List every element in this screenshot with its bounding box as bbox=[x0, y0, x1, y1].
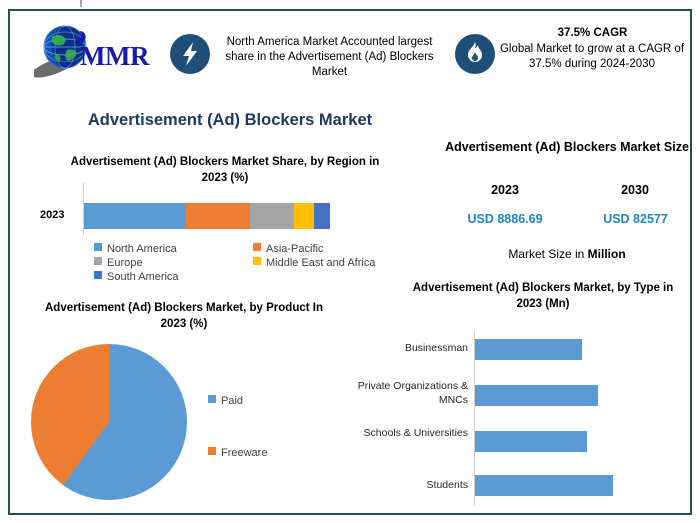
region-chart-title: Advertisement (Ad) Blockers Market Share… bbox=[60, 154, 390, 186]
legend-middle-east-africa: Middle East and Africa bbox=[253, 257, 375, 269]
legend-europe: Europe bbox=[94, 257, 142, 269]
page-title: Advertisement (Ad) Blockers Market bbox=[10, 111, 450, 130]
content-frame: MMR North America Market Accounted large… bbox=[8, 9, 692, 515]
segment-middle-east-africa bbox=[294, 203, 314, 229]
pie-swatch-paid bbox=[208, 395, 216, 403]
segment-asia-pacific bbox=[186, 203, 250, 229]
legend-swatch-europe bbox=[94, 257, 102, 265]
market-size-footer-plain: Market Size in bbox=[508, 247, 587, 261]
pie-chart bbox=[31, 344, 187, 500]
type-chart-title: Advertisement (Ad) Blockers Market, by T… bbox=[408, 280, 678, 312]
legend-label-middle-east-africa: Middle East and Africa bbox=[266, 257, 375, 269]
market-size-year-2030: 2030 bbox=[580, 183, 690, 197]
legend-label-south-america: South America bbox=[107, 271, 179, 283]
type-bar-students bbox=[475, 475, 613, 496]
top-tick-mark bbox=[80, 0, 82, 7]
brand-name: MMR bbox=[80, 41, 149, 72]
pie-swatch-freeware bbox=[208, 447, 216, 455]
highlight-text-1: North America Market Accounted largest s… bbox=[216, 35, 443, 80]
segment-europe bbox=[250, 203, 294, 229]
infographic-page: MMR North America Market Accounted large… bbox=[0, 0, 700, 523]
market-size-footer-unit: Million bbox=[588, 247, 626, 261]
region-stacked-bar bbox=[84, 203, 330, 229]
type-bar-businessman bbox=[475, 339, 582, 360]
highlight-text-2: Global Market to grow at a CAGR of 37.5%… bbox=[497, 42, 687, 72]
market-size-year-2023: 2023 bbox=[450, 183, 560, 197]
legend-label-europe: Europe bbox=[107, 257, 142, 269]
legend-south-america: South America bbox=[94, 271, 179, 283]
type-label-schools-universities: Schools & Universities bbox=[335, 426, 468, 440]
pie-legend-freeware: Freeware bbox=[208, 447, 267, 459]
legend-label-north-america: North America bbox=[107, 243, 177, 255]
lightning-bolt-icon bbox=[170, 34, 210, 74]
market-size-value-2023: USD 8886.69 bbox=[445, 212, 565, 226]
market-size-value-2030: USD 82577 bbox=[578, 212, 693, 226]
type-label-private-organizations: Private Organizations & MNCs bbox=[335, 379, 468, 407]
pie-legend-paid: Paid bbox=[208, 395, 243, 407]
type-label-businessman: Businessman bbox=[335, 341, 468, 355]
legend-asia-pacific: Asia-Pacific bbox=[253, 243, 323, 255]
legend-swatch-south-america bbox=[94, 271, 102, 279]
legend-label-asia-pacific: Asia-Pacific bbox=[266, 243, 323, 255]
legend-swatch-middle-east-africa bbox=[253, 257, 261, 265]
segment-north-america bbox=[84, 203, 186, 229]
type-bar-private-organizations bbox=[475, 385, 598, 406]
flame-icon bbox=[455, 34, 495, 74]
market-size-title: Advertisement (Ad) Blockers Market Size bbox=[442, 138, 692, 156]
pie-label-paid: Paid bbox=[221, 395, 243, 407]
pie-label-freeware: Freeware bbox=[221, 447, 267, 459]
pie-chart-title: Advertisement (Ad) Blockers Market, by P… bbox=[44, 300, 324, 332]
highlight-heading-2: 37.5% CAGR bbox=[500, 26, 685, 41]
brand-logo: MMR bbox=[28, 19, 168, 81]
legend-swatch-asia-pacific bbox=[253, 243, 261, 251]
legend-swatch-north-america bbox=[94, 243, 102, 251]
legend-north-america: North America bbox=[94, 243, 177, 255]
region-category-label: 2023 bbox=[40, 209, 64, 221]
header-bar: MMR North America Market Accounted large… bbox=[10, 11, 690, 95]
type-bar-schools-universities bbox=[475, 431, 587, 452]
segment-south-america bbox=[314, 203, 330, 229]
type-label-students: Students bbox=[335, 478, 468, 492]
market-size-footer: Market Size in Million bbox=[442, 247, 692, 261]
